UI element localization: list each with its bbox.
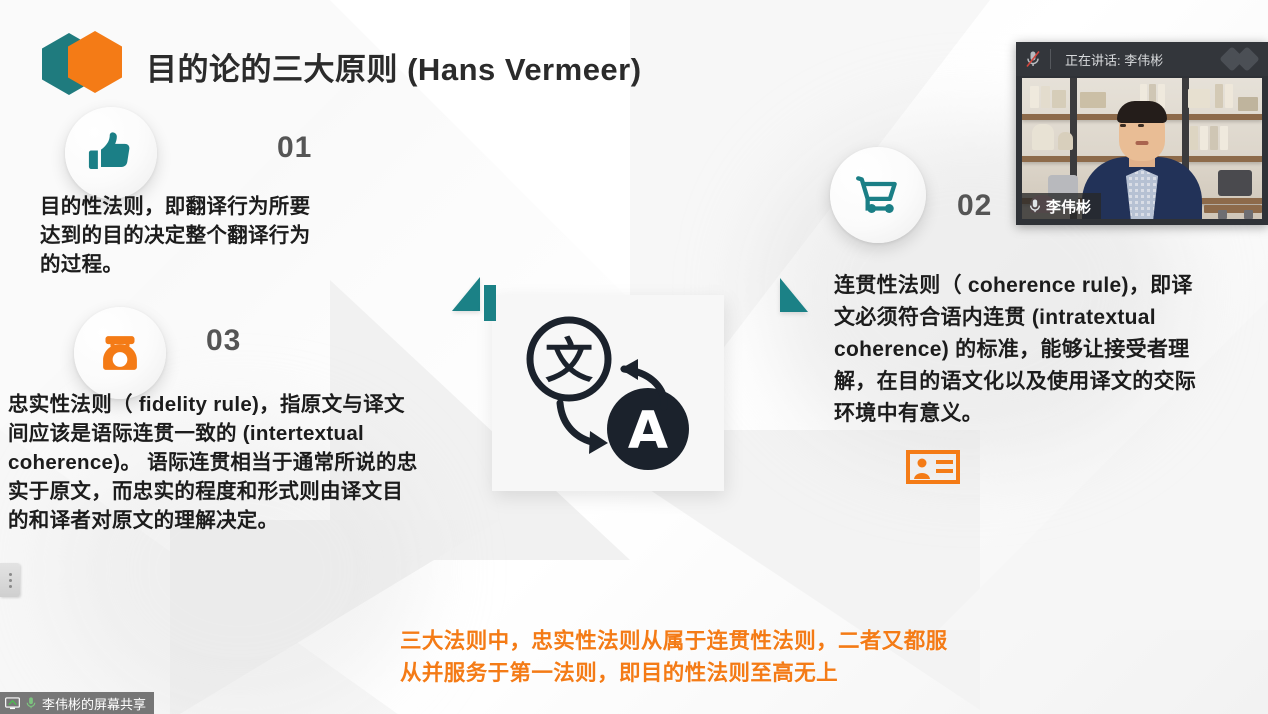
person-shirt-pattern	[1126, 169, 1158, 219]
principle-03-number: 03	[206, 324, 241, 358]
principle-01-number: 01	[277, 131, 312, 165]
book	[1080, 92, 1106, 108]
speaking-label: 正在讲话: 李伟彬	[1065, 50, 1163, 69]
book	[1188, 89, 1210, 108]
video-feed[interactable]: 李伟彬	[1022, 78, 1262, 219]
book	[1041, 86, 1050, 108]
principle-03-badge	[74, 307, 166, 399]
participant-name-tag: 李伟彬	[1022, 193, 1101, 219]
book	[1210, 126, 1218, 150]
principle-01-text: 目的性法则，即翻译行为所要 达到的目的决定整个翻译行为 的过程。	[40, 192, 380, 279]
desk	[1204, 205, 1262, 213]
monitor-prop	[1218, 170, 1252, 196]
thumbs-up-icon	[86, 128, 136, 178]
share-label: 李伟彬的屏幕共享	[42, 694, 146, 713]
window-controls[interactable]	[1226, 50, 1256, 68]
diamond-icon[interactable]	[1234, 46, 1259, 71]
handle-dot	[9, 585, 12, 588]
presenter-annotation-icon	[906, 450, 960, 484]
vase	[1058, 132, 1073, 150]
telephone-icon	[94, 327, 146, 379]
principle-02-text: 连贯性法则（ coherence rule)，即译文必须符合语内连贯 (intr…	[834, 270, 1209, 430]
principle-03-text: 忠实性法则（ fidelity rule)，指原文与译文间应该是语际连贯一致的 …	[8, 390, 418, 536]
header-divider	[1050, 49, 1051, 69]
book	[1215, 84, 1223, 108]
translate-icon: 文 A	[514, 311, 704, 476]
teal-triangle-right-icon	[780, 278, 808, 312]
monitor-icon	[5, 697, 20, 710]
slide-caption: 三大法则中，忠实性法则从属于连贯性法则，二者又都服 从并服务于第一法则，即目的性…	[400, 625, 1130, 690]
book	[1220, 126, 1228, 150]
desk-leg	[1218, 210, 1227, 219]
vase	[1032, 124, 1054, 150]
person-hair	[1117, 101, 1167, 123]
handle-dot	[9, 579, 12, 582]
book	[1238, 97, 1258, 111]
principle-01-badge	[65, 107, 157, 199]
hexagon-logo	[42, 28, 128, 100]
page-title: 目的论的三大原则 (Hans Vermeer)	[146, 44, 642, 89]
teal-triangle-left-icon	[452, 277, 480, 311]
person-eye	[1120, 124, 1126, 127]
desk-leg	[1244, 210, 1253, 219]
panel-expand-handle[interactable]	[0, 563, 20, 597]
video-panel-header[interactable]: 正在讲话: 李伟彬	[1016, 42, 1268, 76]
center-graphic-card: 文 A	[492, 295, 724, 491]
mic-icon	[25, 696, 37, 710]
mic-icon	[1028, 198, 1042, 214]
book	[1225, 84, 1233, 108]
card-accent-bar	[484, 285, 496, 321]
slide-stage: 目的论的三大原则 (Hans Vermeer) 01 目的性法则，即翻译行为所要…	[0, 0, 1268, 714]
svg-text:A: A	[628, 401, 668, 461]
participant-name: 李伟彬	[1046, 196, 1091, 217]
book	[1052, 90, 1066, 108]
shopping-cart-icon	[851, 168, 905, 222]
handle-dot	[9, 573, 12, 576]
person-mouth	[1136, 141, 1149, 145]
mic-muted-icon[interactable]	[1016, 42, 1050, 76]
principle-02-number: 02	[957, 189, 992, 223]
principle-02-badge	[830, 147, 926, 243]
screen-share-bar[interactable]: 李伟彬的屏幕共享	[0, 692, 154, 714]
video-panel[interactable]: 正在讲话: 李伟彬	[1016, 42, 1268, 225]
person-eye	[1138, 124, 1144, 127]
book	[1030, 86, 1039, 108]
svg-text:文: 文	[545, 333, 593, 389]
